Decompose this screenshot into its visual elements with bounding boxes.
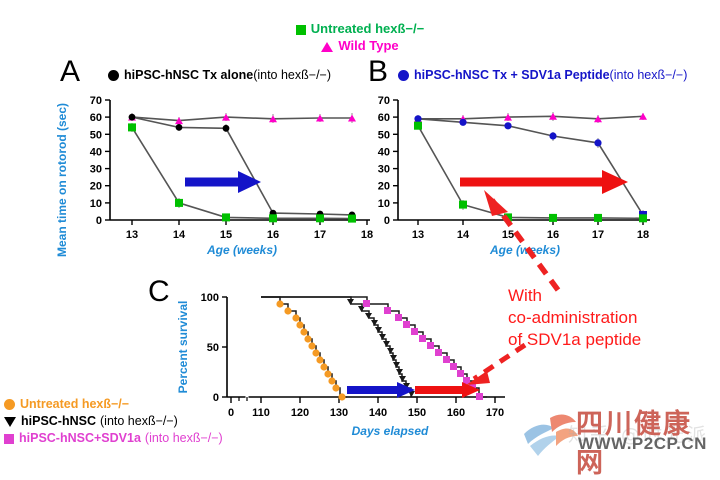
- svg-text:13: 13: [412, 229, 424, 241]
- svg-text:0: 0: [384, 215, 390, 227]
- panel-letter-b: B: [368, 55, 388, 89]
- panel-b-caption: hiPSC-hNSC Tx + SDV1a Peptide(into hexß−…: [398, 68, 687, 82]
- watermark: 知乎 @时光派 四川健康网 WWW.P2CP.CN: [520, 398, 720, 464]
- panel-a-plot: Mean time on rotorod (sec) 70 60 50 40 3…: [52, 92, 392, 257]
- panel-a-caption: hiPSC-hNSC Tx alone(into hexß−/−): [108, 68, 331, 82]
- legend-item-untreated: Untreated hexß−/−: [0, 20, 720, 37]
- svg-text:15: 15: [220, 229, 232, 241]
- svg-text:30: 30: [90, 164, 102, 176]
- panel-letter-c: C: [148, 275, 170, 309]
- panel-c-markers-hipsc: [347, 299, 415, 397]
- figure-root: Untreated hexß−/− Wild Type A B C hiPSC-…: [0, 0, 720, 466]
- panel-a-lines: [132, 117, 352, 219]
- svg-text:0: 0: [96, 215, 102, 227]
- svg-text:13: 13: [126, 229, 138, 241]
- legend-bottom-label-1: hiPSC-hNSC: [21, 414, 96, 428]
- annotation-line-2: co-administration: [508, 307, 641, 329]
- svg-text:100: 100: [201, 292, 219, 304]
- panel-a-series-hipsc: [129, 114, 356, 219]
- svg-text:20: 20: [90, 181, 102, 193]
- watermark-url: WWW.P2CP.CN: [578, 434, 707, 454]
- triangle-down-marker-black-icon: [4, 417, 16, 427]
- triangle-up-marker-magenta-icon: [321, 42, 333, 52]
- circle-marker-blue-icon: [398, 70, 409, 81]
- svg-text:17: 17: [592, 229, 604, 241]
- legend-item-untreated-survival: Untreated hexß−/−: [4, 396, 223, 413]
- panel-b-yticks: 70 60 50 40 30 20 10 0: [378, 95, 398, 227]
- annotation-line-3: of SDV1a peptide: [508, 329, 641, 351]
- legend-bottom-paren-1: (into hexß−/−): [100, 414, 178, 428]
- svg-text:10: 10: [90, 198, 102, 210]
- legend-bottom-paren-2: (into hexß−/−): [145, 431, 223, 445]
- svg-text:17: 17: [314, 229, 326, 241]
- legend-bottom-label-2: hiPSC-hNSC+SDV1a: [19, 431, 141, 445]
- panel-a-ylabel: Mean time on rotorod (sec): [55, 103, 69, 257]
- square-marker-green-icon: [296, 25, 306, 35]
- panel-a-blue-arrow: [185, 171, 261, 193]
- co-administration-callout: With co-administration of SDV1a peptide: [508, 285, 641, 351]
- panel-c-xlabel: Days elapsed: [352, 424, 429, 438]
- legend-label-untreated: Untreated hexß−/−: [311, 21, 424, 36]
- panel-a-xticks: 13 14 15 16 17 18: [126, 220, 373, 241]
- panel-a-caption-paren: (into hexß−/−): [253, 68, 331, 82]
- svg-text:70: 70: [378, 95, 390, 107]
- svg-text:14: 14: [173, 229, 186, 241]
- svg-text:130: 130: [330, 407, 348, 419]
- svg-text:50: 50: [378, 129, 390, 141]
- panel-b-caption-bold: hiPSC-hNSC Tx + SDV1a Peptide: [414, 68, 610, 82]
- panel-a-yticks: 70 60 50 40 30 20 10 0: [90, 95, 110, 227]
- panel-letter-a: A: [60, 55, 80, 89]
- legend-item-wildtype: Wild Type: [0, 37, 720, 54]
- annotation-line-1: With: [508, 285, 641, 307]
- panel-a-errorbars: [132, 113, 352, 208]
- panel-c-yticks: 100 50 0: [201, 292, 227, 404]
- panel-a-caption-bold: hiPSC-hNSC Tx alone: [124, 68, 253, 82]
- svg-text:0: 0: [228, 407, 234, 419]
- panel-c-ylabel: Percent survival: [176, 301, 190, 394]
- svg-text:60: 60: [378, 112, 390, 124]
- square-marker-magenta-icon: [4, 434, 14, 444]
- svg-text:20: 20: [378, 181, 390, 193]
- legend-bottom-label-0: Untreated hexß−/−: [20, 397, 129, 411]
- legend-label-wildtype: Wild Type: [338, 38, 398, 53]
- svg-text:40: 40: [90, 146, 102, 158]
- svg-text:140: 140: [369, 407, 387, 419]
- svg-text:150: 150: [408, 407, 426, 419]
- legend-item-sdv1a-survival: hiPSC-hNSC+SDV1a(into hexß−/−): [4, 430, 223, 447]
- svg-text:10: 10: [378, 198, 390, 210]
- panel-b-caption-paren: (into hexß−/−): [610, 68, 688, 82]
- svg-text:60: 60: [90, 112, 102, 124]
- circle-marker-black-icon: [108, 70, 119, 81]
- svg-text:30: 30: [378, 164, 390, 176]
- svg-text:110: 110: [252, 407, 270, 419]
- legend-bottom: Untreated hexß−/− hiPSC-hNSC(into hexß−/…: [4, 396, 223, 447]
- svg-text:16: 16: [267, 229, 279, 241]
- svg-text:120: 120: [291, 407, 309, 419]
- svg-text:40: 40: [378, 146, 390, 158]
- panel-c-markers-untreated: [276, 300, 345, 400]
- svg-text:50: 50: [207, 342, 219, 354]
- panel-a-xlabel: Age (weeks): [206, 243, 277, 257]
- svg-text:18: 18: [637, 229, 649, 241]
- svg-text:70: 70: [90, 95, 102, 107]
- legend-item-hipsc-survival: hiPSC-hNSC(into hexß−/−): [4, 413, 223, 430]
- legend-top: Untreated hexß−/− Wild Type: [0, 20, 720, 54]
- svg-text:50: 50: [90, 129, 102, 141]
- circle-marker-orange-icon: [4, 399, 15, 410]
